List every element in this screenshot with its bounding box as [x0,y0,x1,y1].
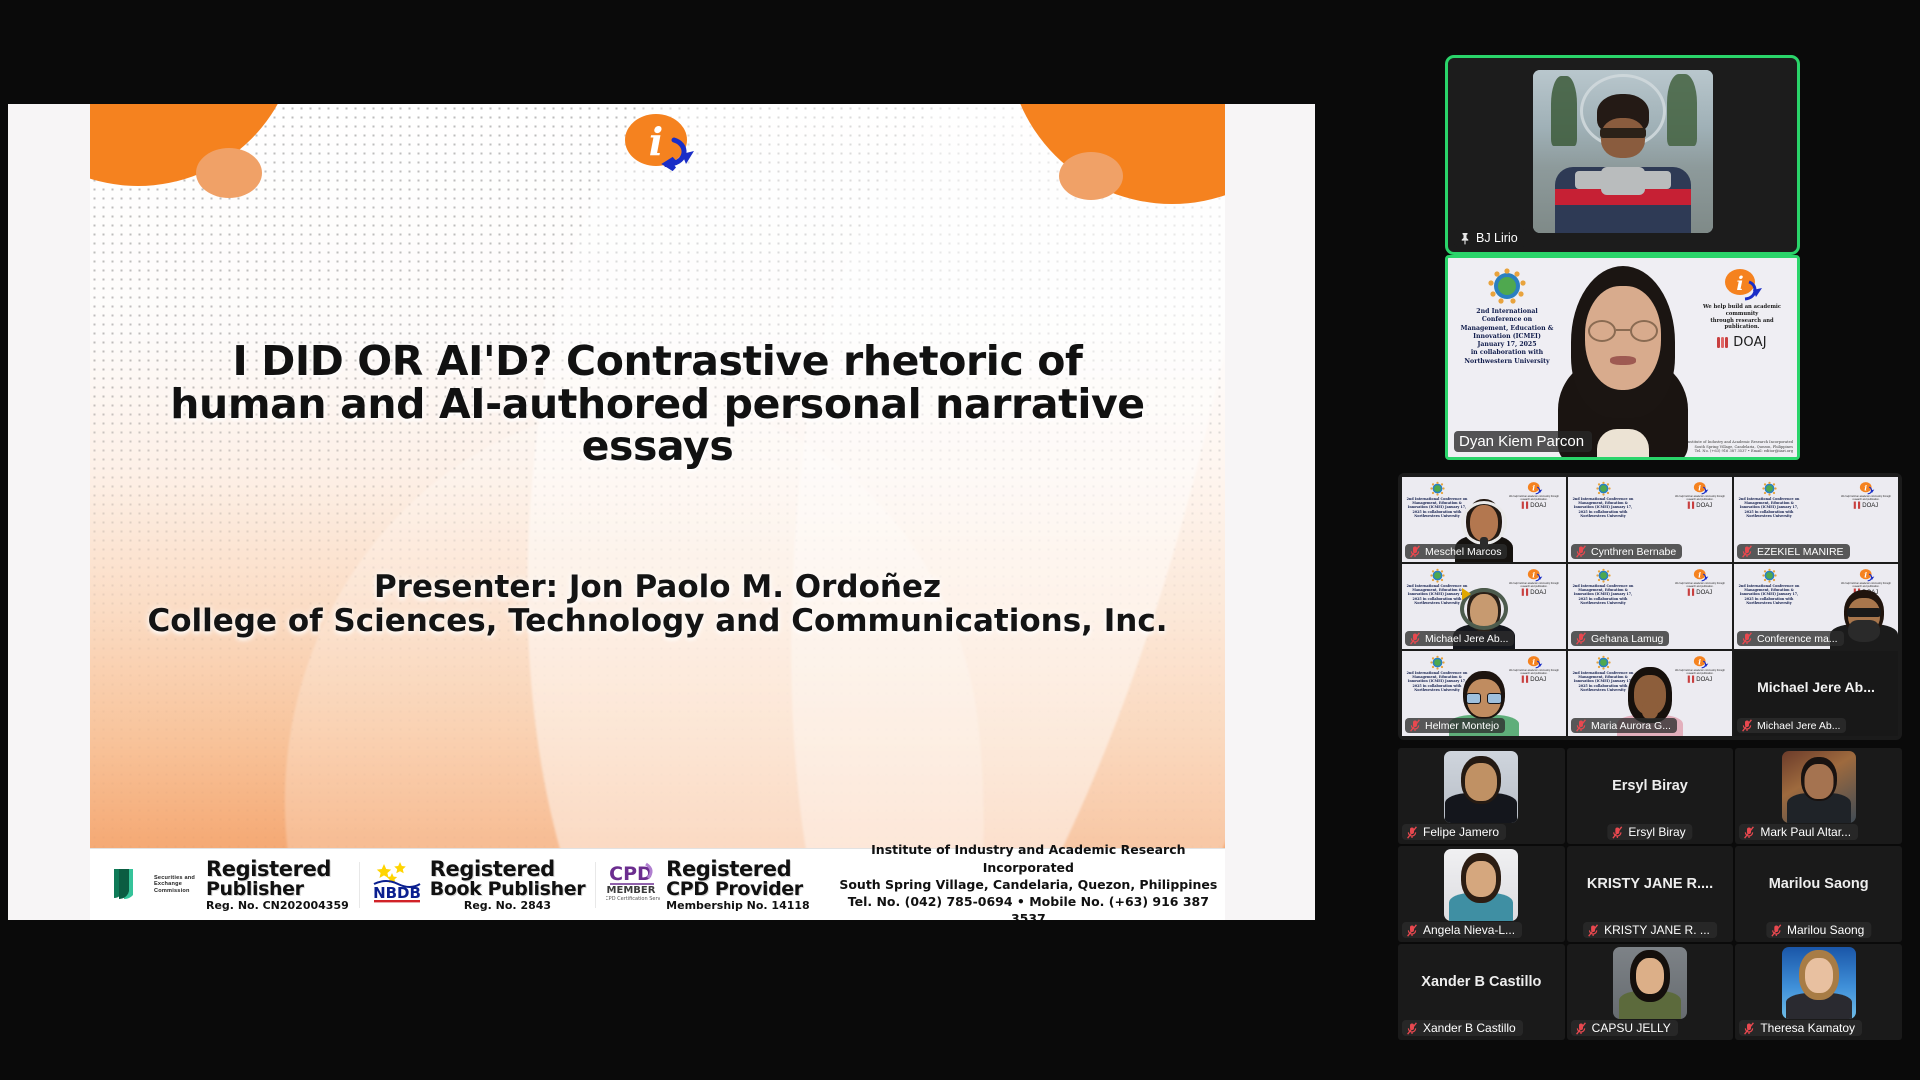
cpd-logo-icon: CPD MEMBER The CPD Certification Service [606,860,660,909]
halftone-texture [90,104,1225,920]
shared-screen-region[interactable]: i I DID OR AI'D? Contrastive rhetoric of… [8,104,1315,920]
participant-name: EZEKIEL MANIRE [1757,546,1844,558]
grid-tile[interactable]: 2nd International Conference on Manageme… [1568,477,1732,562]
footer-address: Institute of Industry and Academic Resea… [838,841,1219,920]
microphone-muted-icon [1575,545,1587,558]
participant-display-name: Marilou Saong [1735,876,1902,892]
microphone-muted-icon [1587,924,1599,937]
microphone-muted-icon [1409,632,1421,645]
participant-name: Michael Jere Ab... [1757,720,1840,732]
badge-sec: Securities and Exchange Commission Regis… [96,859,359,911]
microphone-muted-icon [1575,1022,1587,1035]
participant-name-chip: KRISTY JANE R. ... [1583,922,1717,938]
iiari-i-logo: i [1692,481,1709,495]
icmei-logo-icon [1429,568,1446,583]
address-line-1: Institute of Industry and Academic Resea… [838,841,1219,876]
participant-name: Cynthren Bernabe [1591,546,1676,558]
mini-brand: i We help build an academic community th… [1506,481,1562,509]
microphone-muted-icon [1743,1022,1755,1035]
microphone-muted-icon [1741,719,1753,732]
cpd-text: Registered CPD Provider Membership No. 1… [666,859,810,911]
svg-text:i: i [648,119,662,164]
participant-name-chip: Michael Jere Ab... [1405,631,1514,646]
mini-banner-text: 2nd International Conference on Manageme… [1738,568,1800,605]
microphone-muted-icon [1409,545,1421,558]
avatar [1613,947,1687,1019]
address-line-3: Tel. No. (042) 785-0694 • Mobile No. (+6… [838,893,1219,920]
mini-brand: i We help build an academic community th… [1672,568,1728,596]
participant-name: Michael Jere Ab... [1425,633,1508,645]
sec-logo-icon [106,861,148,908]
orange-blob-top-left [90,104,298,186]
microphone-muted-icon [1406,1022,1418,1035]
badge-nbdb: NBDB Registered Book Publisher Reg. No. … [360,859,595,911]
participant-name-chip: Marilou Saong [1766,922,1871,938]
icmei-logo-icon [1429,655,1446,670]
microphone-muted-icon [1741,545,1753,558]
participant-name: KRISTY JANE R. ... [1604,923,1710,937]
doaj-label: DOAJ [1733,335,1767,350]
mini-banner-text: 2nd International Conference on Manageme… [1572,481,1634,518]
decorative-wave [402,104,1225,920]
grid-tile[interactable]: 2nd International Conference on Manageme… [1734,477,1898,562]
svg-text:i: i [1698,657,1701,666]
avatar [1782,751,1856,823]
icmei-logo-icon [1761,568,1778,583]
iiari-i-logo: i [1858,481,1875,495]
participant-name: BJ Lirio [1476,231,1518,245]
microphone-muted-icon [1743,826,1755,839]
microphone-muted-icon [1575,632,1587,645]
video-tile-bj-lirio[interactable]: BJ Lirio [1445,55,1800,255]
grid-tile[interactable]: 2nd International Conference on Manageme… [1402,651,1566,736]
nbdb-text: Registered Book Publisher Reg. No. 2843 [430,859,585,911]
pin-icon [1459,232,1471,245]
slide-footer: Securities and Exchange Commission Regis… [90,848,1225,920]
grid-tile[interactable]: 2nd International Conference on Manageme… [1402,477,1566,562]
participant-name: Ersyl Biray [1628,825,1685,839]
grid-tile[interactable]: 2nd International Conference on Manageme… [1568,564,1732,649]
mini-brand: i We help build an academic community th… [1672,481,1728,509]
participant-name-chip: Michael Jere Ab... [1737,718,1846,733]
microphone-muted-icon [1406,826,1418,839]
decorative-wave [713,104,1225,920]
presentation-slide[interactable]: i I DID OR AI'D? Contrastive rhetoric of… [90,104,1225,920]
svg-text:NBDB: NBDB [373,884,421,902]
participant-name: Xander B Castillo [1423,1021,1516,1035]
svg-text:CPD: CPD [609,863,653,885]
icmei-logo-icon [1595,481,1612,496]
participant-name-chip: Cynthren Bernabe [1571,544,1682,559]
participant-name-chip: Xander B Castillo [1402,1020,1523,1036]
participant-tile[interactable]: Mark Paul Altar... [1735,748,1902,844]
participant-name-chip: Angela Nieva-L... [1402,922,1522,938]
participant-display-name: Michael Jere Ab... [1734,679,1898,695]
nbdb-line1: Registered [430,859,585,880]
participant-name-chip: Maria Aurora G... [1571,718,1677,733]
participant-tile[interactable]: Angela Nieva-L... [1398,846,1565,942]
avatar [1444,849,1518,921]
svg-text:i: i [1736,273,1743,295]
participant-tile[interactable]: Xander B Castillo Xander B Castillo [1398,944,1565,1040]
svg-text:i: i [1864,570,1867,579]
microphone-muted-icon [1611,826,1623,839]
webcam-person [1537,260,1709,460]
cpd-line2: CPD Provider [666,880,810,899]
video-tile-dyan-kiem-parcon[interactable]: 2nd International Conference on Manageme… [1445,255,1800,460]
nbdb-reg: Reg. No. 2843 [430,900,585,911]
grid-tile[interactable]: 2nd International Conference on Manageme… [1734,564,1898,649]
grid-tile[interactable]: 2nd International Conference on Manageme… [1402,564,1566,649]
svg-text:The CPD Certification Service: The CPD Certification Service [606,896,660,902]
participant-name: Dyan Kiem Parcon [1459,433,1584,450]
participant-display-name: Xander B Castillo [1398,974,1565,990]
participant-name: Marilou Saong [1787,923,1864,937]
presenter-affiliation: College of Sciences, Technology and Comm… [90,606,1225,637]
cpd-line1: Registered [666,859,810,880]
mini-banner-text: 2nd International Conference on Manageme… [1738,481,1800,518]
participant-name: CAPSU JELLY [1592,1021,1671,1035]
participant-tile[interactable]: Felipe Jamero [1398,748,1565,844]
icmei-logo-icon [1761,481,1778,496]
participant-display-name: Ersyl Biray [1567,778,1734,794]
icmei-logo-icon [1485,266,1529,306]
svg-text:i: i [1864,483,1867,492]
participant-tile[interactable]: Marilou Saong Marilou Saong [1735,846,1902,942]
iiari-i-logo: i [1721,266,1763,302]
participant-name-chip: Ersyl Biray [1607,824,1692,840]
mini-brand: i We help build an academic community th… [1838,481,1894,509]
iiari-i-logo: i [1526,481,1543,495]
nbdb-line2: Book Publisher [430,880,585,899]
microphone-muted-icon [1741,632,1753,645]
participant-grid-conference[interactable]: 2nd International Conference on Manageme… [1398,473,1902,740]
participant-name: Conference ma... [1757,633,1838,645]
participant-name: Mark Paul Altar... [1760,825,1851,839]
avatar [1782,947,1856,1019]
nbdb-logo-icon: NBDB [370,860,424,909]
participant-name: Maria Aurora G... [1591,720,1671,732]
microphone-muted-icon [1409,719,1421,732]
microphone-muted-icon [1406,924,1418,937]
participant-name-chip: Helmer Montejo [1405,718,1505,733]
grid-tile[interactable]: 2nd International Conference on Manageme… [1568,651,1732,736]
participant-name-chip: Mark Paul Altar... [1739,824,1858,840]
participant-video-strip[interactable]: BJ Lirio [1380,0,1920,1080]
iiari-i-logo: i [1692,655,1709,669]
participant-name: Angela Nieva-L... [1423,923,1515,937]
sec-reg: Reg. No. CN202004359 [206,900,349,911]
participant-name-chip: Theresa Kamatoy [1739,1020,1862,1036]
address-line-2: South Spring Village, Candelaria, Quezon… [838,876,1219,893]
icmei-logo-icon [1595,568,1612,583]
grid-tile[interactable]: Michael Jere Ab... Michael Jere Ab... [1734,651,1898,736]
svg-text:i: i [1532,657,1535,666]
slide-title: I DID OR AI'D? Contrastive rhetoric of h… [90,340,1225,468]
orange-dot-right [1059,152,1123,200]
sec-line1: Registered [206,859,349,880]
iiari-i-logo: i [1858,568,1875,582]
doaj-mark-icon [1717,337,1730,348]
cpd-reg: Membership No. 14118 [666,900,810,911]
iiari-i-logo: i [616,110,700,176]
svg-text:i: i [1532,483,1535,492]
participant-display-name: KRISTY JANE R.... [1567,876,1734,892]
svg-text:i: i [1532,570,1535,579]
meeting-window: i I DID OR AI'D? Contrastive rhetoric of… [0,0,1920,1080]
participant-name-chip: CAPSU JELLY [1571,1020,1678,1036]
participant-name: Helmer Montejo [1425,720,1499,732]
participant-name: Meschel Marcos [1425,546,1501,558]
avatar [1444,751,1518,823]
participant-tile[interactable]: KRISTY JANE R.... KRISTY JANE R. ... [1567,846,1734,942]
microphone-muted-icon [1575,719,1587,732]
iiari-i-logo: i [1692,568,1709,582]
participant-name-chip: Felipe Jamero [1402,824,1506,840]
orange-dot-left [196,148,262,198]
iiari-i-logo: i [1526,568,1543,582]
sec-text: Registered Publisher Reg. No. CN20200435… [206,859,349,911]
mini-brand: i We help build an academic community th… [1506,568,1562,596]
participant-tile[interactable]: Ersyl Biray Ersyl Biray [1567,748,1734,844]
participant-name-chip: Dyan Kiem Parcon [1454,431,1592,452]
participant-name-chip: Meschel Marcos [1405,544,1507,559]
participant-name-chip: Gehana Lamug [1571,631,1669,646]
badge-cpd: CPD MEMBER The CPD Certification Service… [596,859,820,911]
participant-tile[interactable]: CAPSU JELLY [1567,944,1734,1040]
iiari-i-logo: i [1526,655,1543,669]
participant-name-chip: EZEKIEL MANIRE [1737,544,1850,559]
svg-text:MEMBER: MEMBER [607,885,656,896]
icmei-logo-icon [1429,481,1446,496]
icmei-logo-icon [1595,655,1612,670]
sec-line2: Publisher [206,880,349,899]
participant-name: Theresa Kamatoy [1760,1021,1855,1035]
participant-name-chip: BJ Lirio [1454,229,1526,247]
participant-name-chip: Conference ma... [1737,631,1844,646]
mini-banner-text: 2nd International Conference on Manageme… [1572,568,1634,605]
sec-label: Securities and Exchange Commission [154,875,200,894]
slide-presenter-block: Presenter: Jon Paolo M. Ordoñez College … [90,572,1225,637]
participant-name: Felipe Jamero [1423,825,1499,839]
participant-grid-lower[interactable]: Felipe Jamero Ersyl Biray Ersyl Biray [1398,748,1902,1040]
presenter-name: Presenter: Jon Paolo M. Ordoñez [90,572,1225,603]
participant-tile[interactable]: Theresa Kamatoy [1735,944,1902,1040]
participant-name: Gehana Lamug [1591,633,1663,645]
svg-text:i: i [1698,483,1701,492]
microphone-muted-icon [1770,924,1782,937]
svg-text:i: i [1698,570,1701,579]
